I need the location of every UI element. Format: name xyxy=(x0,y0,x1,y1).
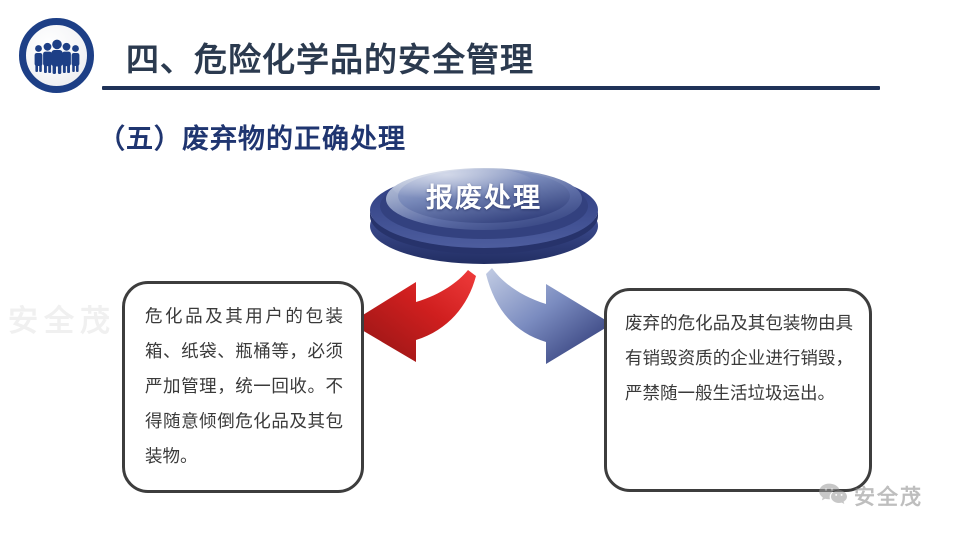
left-text-box-content: 危化品及其用户的包装箱、纸袋、瓶桶等，必须严加管理，统一回收。不得随意倾倒危化品… xyxy=(145,300,343,475)
left-arrow xyxy=(350,270,476,362)
header-divider xyxy=(102,86,880,90)
section-subtitle: （五）废弃物的正确处理 xyxy=(98,117,406,156)
right-arrow xyxy=(486,268,612,364)
background-watermark: 安全茂 xyxy=(8,296,116,340)
slide-canvas: 安全茂 xyxy=(0,0,960,540)
right-text-box: 废弃的危化品及其包装物由具有销毁资质的企业进行销毁，严禁随一般生活垃圾运出。 xyxy=(604,288,872,492)
corner-watermark-label: 安全茂 xyxy=(854,481,923,511)
people-group-circle-icon xyxy=(19,18,94,93)
corner-watermark: 安全茂 xyxy=(818,481,923,511)
arrow-group xyxy=(330,262,630,392)
center-disc: 报废处理 xyxy=(368,152,600,272)
page-title: 四、危险化学品的安全管理 xyxy=(126,33,534,81)
wechat-icon xyxy=(818,482,848,511)
right-text-box-content: 废弃的危化品及其包装物由具有销毁资质的企业进行销毁，严禁随一般生活垃圾运出。 xyxy=(625,307,853,412)
left-text-box: 危化品及其用户的包装箱、纸袋、瓶桶等，必须严加管理，统一回收。不得随意倾倒危化品… xyxy=(122,281,364,493)
